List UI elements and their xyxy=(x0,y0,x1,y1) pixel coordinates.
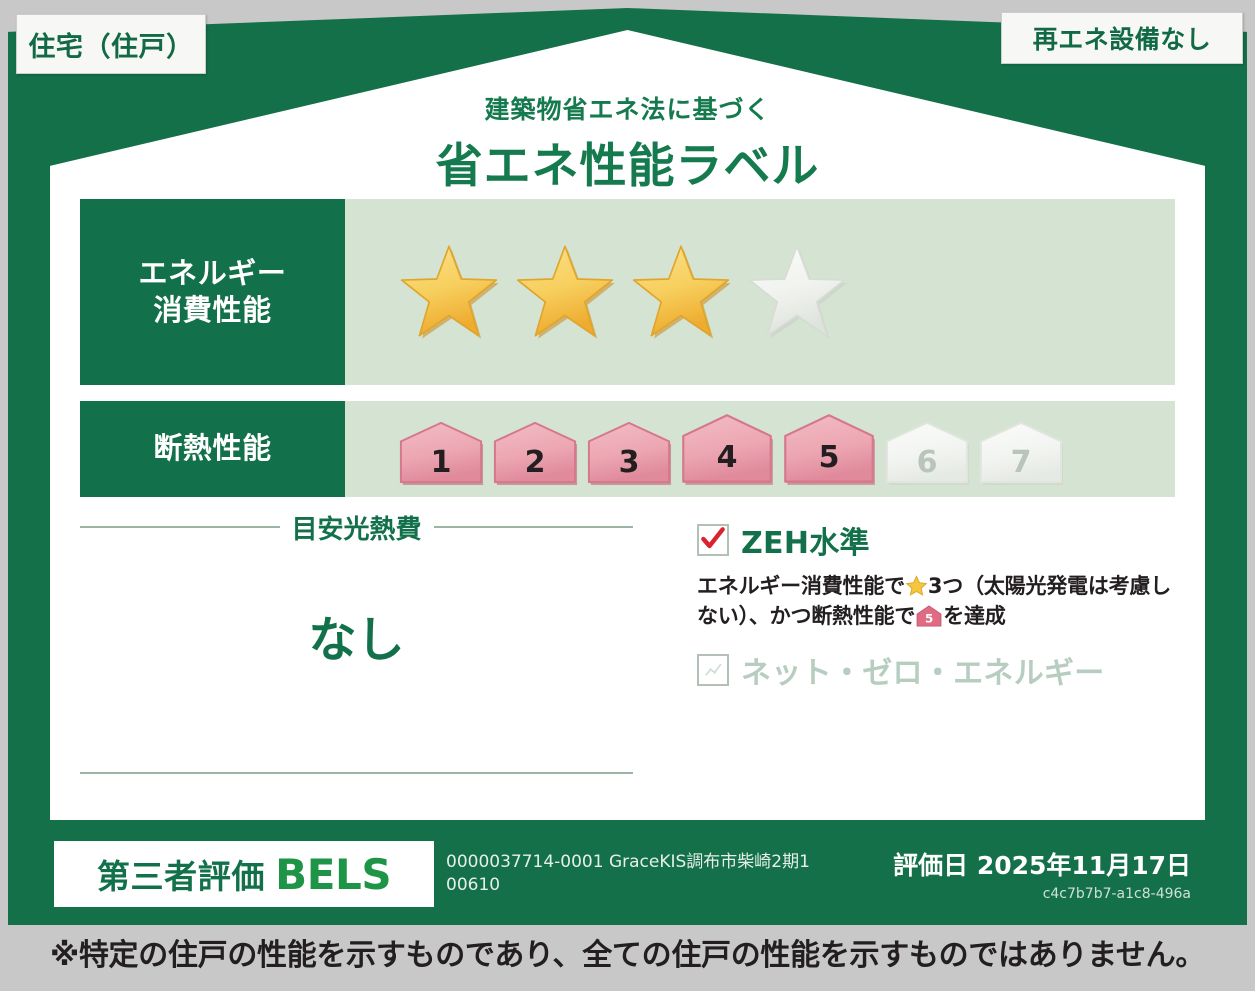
net-zero-energy-checkbox-unchecked xyxy=(697,654,729,686)
house-icon xyxy=(679,412,775,486)
label-subtitle: 建築物省エネ法に基づく xyxy=(0,90,1255,126)
insulation-step-2: 2 xyxy=(491,420,579,486)
house-step-row: 1234567 xyxy=(397,412,1065,486)
page-title: 省エネ性能ラベル xyxy=(0,127,1255,196)
building-type-tag: 住宅（住戸） xyxy=(16,14,206,74)
bels-footer-bar: 第三者評価 BELS 0000037714-0001 GraceKIS調布市柴崎… xyxy=(50,828,1205,920)
insulation-step-1: 1 xyxy=(397,420,485,486)
insulation-step-3: 3 xyxy=(585,420,673,486)
star-icon-empty xyxy=(745,242,849,342)
net-zero-energy-line: ネット・ゼロ・エネルギー xyxy=(697,648,1183,692)
document-hash: c4c7b7b7-a1c8-496a xyxy=(824,886,1192,902)
insulation-step-4: 4 xyxy=(679,412,775,486)
insulation-step-5: 5 xyxy=(781,412,877,486)
insulation-performance-row: 断熱性能 1234567 xyxy=(80,401,1175,497)
mini-house-icon: 5 xyxy=(915,605,943,627)
zeh-standard-line: ZEH水準 xyxy=(697,518,1183,562)
svg-text:5: 5 xyxy=(925,611,933,625)
star-icon-filled xyxy=(513,242,617,342)
heading-rule-left xyxy=(80,526,280,528)
star-icon-filled xyxy=(397,242,501,342)
utility-cost-heading-label: 目安光熱費 xyxy=(292,509,422,546)
utility-cost-block: 目安光熱費 なし xyxy=(80,512,633,774)
zeh-block: ZEH水準 エネルギー消費性能で3つ（太陽光発電は考慮しない）、かつ断熱性能で5… xyxy=(697,518,1183,692)
energy-performance-label: エネルギー 消費性能 xyxy=(80,199,345,385)
certificate-number: 0000037714-0001 GraceKIS調布市柴崎2期100610 xyxy=(434,851,824,897)
renewable-equipment-tag: 再エネ設備なし xyxy=(1001,12,1243,64)
house-icon xyxy=(781,412,877,486)
insulation-step-7: 7 xyxy=(977,420,1065,486)
house-icon xyxy=(977,420,1065,486)
evaluation-date: 評価日 2025年11月17日 xyxy=(824,846,1192,882)
net-zero-energy-label: ネット・ゼロ・エネルギー xyxy=(741,648,1105,692)
energy-label-line2: 消費性能 xyxy=(153,293,271,327)
mini-star-icon xyxy=(905,575,928,597)
bels-badge: 第三者評価 BELS xyxy=(54,841,434,907)
bels-badge-jp-label: 第三者評価 xyxy=(97,850,265,898)
house-icon xyxy=(585,420,673,486)
insulation-step-6: 6 xyxy=(883,420,971,486)
star-row xyxy=(397,242,849,342)
utility-cost-bottom-rule xyxy=(80,772,633,774)
energy-label-line1: エネルギー xyxy=(139,256,287,290)
house-icon xyxy=(883,420,971,486)
zeh-standard-label: ZEH水準 xyxy=(741,518,870,562)
evaluation-date-block: 評価日 2025年11月17日 c4c7b7b7-a1c8-496a xyxy=(824,846,1206,902)
insulation-performance-label: 断熱性能 xyxy=(80,401,345,497)
energy-star-rating xyxy=(345,199,1175,385)
zeh-checkbox-checked xyxy=(697,524,729,556)
heading-rule-right xyxy=(434,526,634,528)
utility-cost-value: なし xyxy=(80,600,633,670)
star-icon-filled xyxy=(629,242,733,342)
house-icon xyxy=(397,420,485,486)
house-icon xyxy=(491,420,579,486)
zeh-description: エネルギー消費性能で3つ（太陽光発電は考慮しない）、かつ断熱性能で5を達成 xyxy=(697,572,1183,632)
bels-badge-en-label: BELS xyxy=(275,850,391,899)
energy-performance-row: エネルギー 消費性能 xyxy=(80,199,1175,385)
zeh-desc-part1: エネルギー消費性能で xyxy=(697,574,905,598)
energy-label-root: 住宅（住戸） 再エネ設備なし 建築物省エネ法に基づく 省エネ性能ラベル エネルギ… xyxy=(0,0,1255,991)
zeh-desc-part3: を達成 xyxy=(943,604,1005,628)
insulation-level-scale: 1234567 xyxy=(345,401,1175,497)
footer-disclaimer: ※特定の住戸の性能を示すものであり、全ての住戸の性能を示すものではありません。 xyxy=(0,930,1255,974)
utility-cost-heading: 目安光熱費 xyxy=(80,512,633,542)
